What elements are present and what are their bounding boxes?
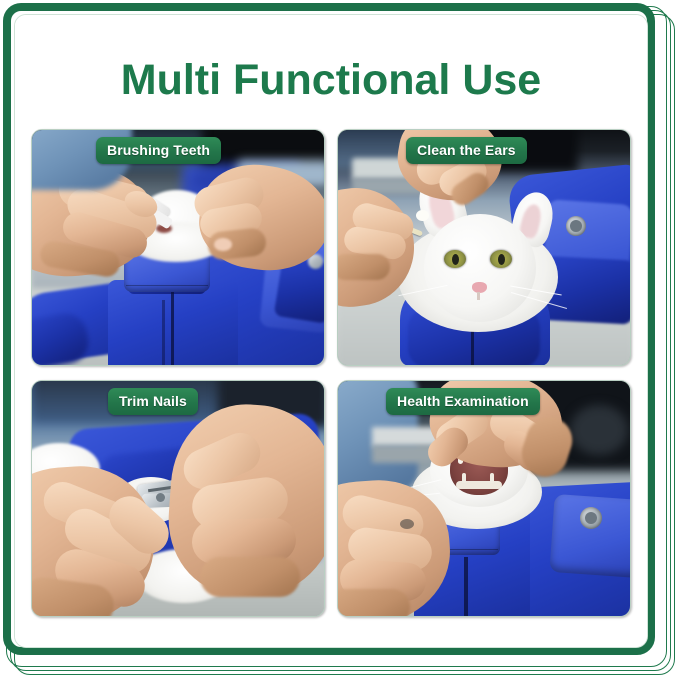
panel-photo-brushing-teeth: Brushing Teeth	[32, 130, 324, 365]
outer-frame: Multi Functional Use	[0, 0, 679, 679]
panel-photo-health-examination: Health Examination	[338, 381, 630, 616]
panel-label-clean-the-ears: Clean the Ears	[406, 137, 527, 164]
panel-card-brushing-teeth[interactable]: Brushing Teeth	[31, 129, 325, 366]
infographic-content: Multi Functional Use	[15, 15, 647, 647]
panel-card-trim-nails[interactable]: Trim Nails	[31, 380, 325, 617]
panel-label-trim-nails: Trim Nails	[108, 388, 198, 415]
panel-photo-clean-the-ears: Clean the Ears	[338, 130, 630, 365]
panel-photo-trim-nails: Trim Nails	[32, 381, 324, 616]
panel-card-clean-the-ears[interactable]: Clean the Ears	[337, 129, 631, 366]
panel-label-brushing-teeth: Brushing Teeth	[96, 137, 221, 164]
panel-card-health-examination[interactable]: Health Examination	[337, 380, 631, 617]
panel-grid: Brushing Teeth	[31, 129, 631, 631]
page-title: Multi Functional Use	[15, 56, 647, 105]
panel-label-health-examination: Health Examination	[386, 388, 540, 415]
